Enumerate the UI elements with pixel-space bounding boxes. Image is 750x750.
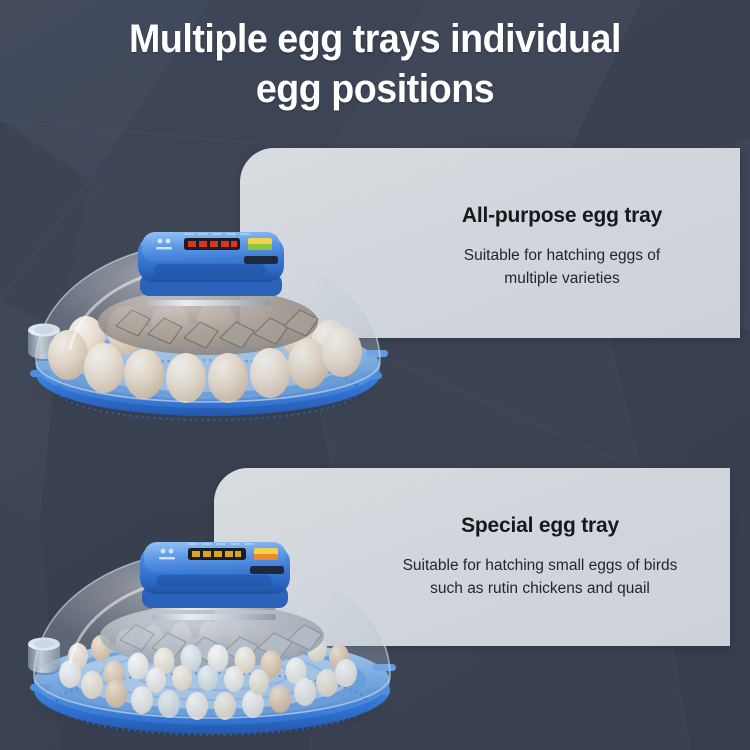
feature-heading-all-purpose: All-purpose egg tray bbox=[400, 204, 724, 228]
control-panel-icon bbox=[138, 232, 284, 296]
feature-body-special: Suitable for hatching small eggs of bird… bbox=[370, 554, 710, 600]
feature-body-line-2: such as rutin chickens and quail bbox=[430, 580, 650, 597]
control-panel-icon bbox=[140, 542, 290, 608]
feature-body-line-1: Suitable for hatching eggs of bbox=[464, 247, 660, 264]
product-feature-image: Multiple egg trays individual egg positi… bbox=[0, 0, 750, 750]
feature-body-line-1: Suitable for hatching small eggs of bird… bbox=[403, 557, 678, 574]
product-incubator-all-purpose bbox=[8, 222, 408, 427]
feature-body-line-2: multiple varieties bbox=[504, 270, 619, 287]
product-incubator-special bbox=[6, 528, 418, 746]
feature-body-all-purpose: Suitable for hatching eggs of multiple v… bbox=[400, 244, 724, 290]
